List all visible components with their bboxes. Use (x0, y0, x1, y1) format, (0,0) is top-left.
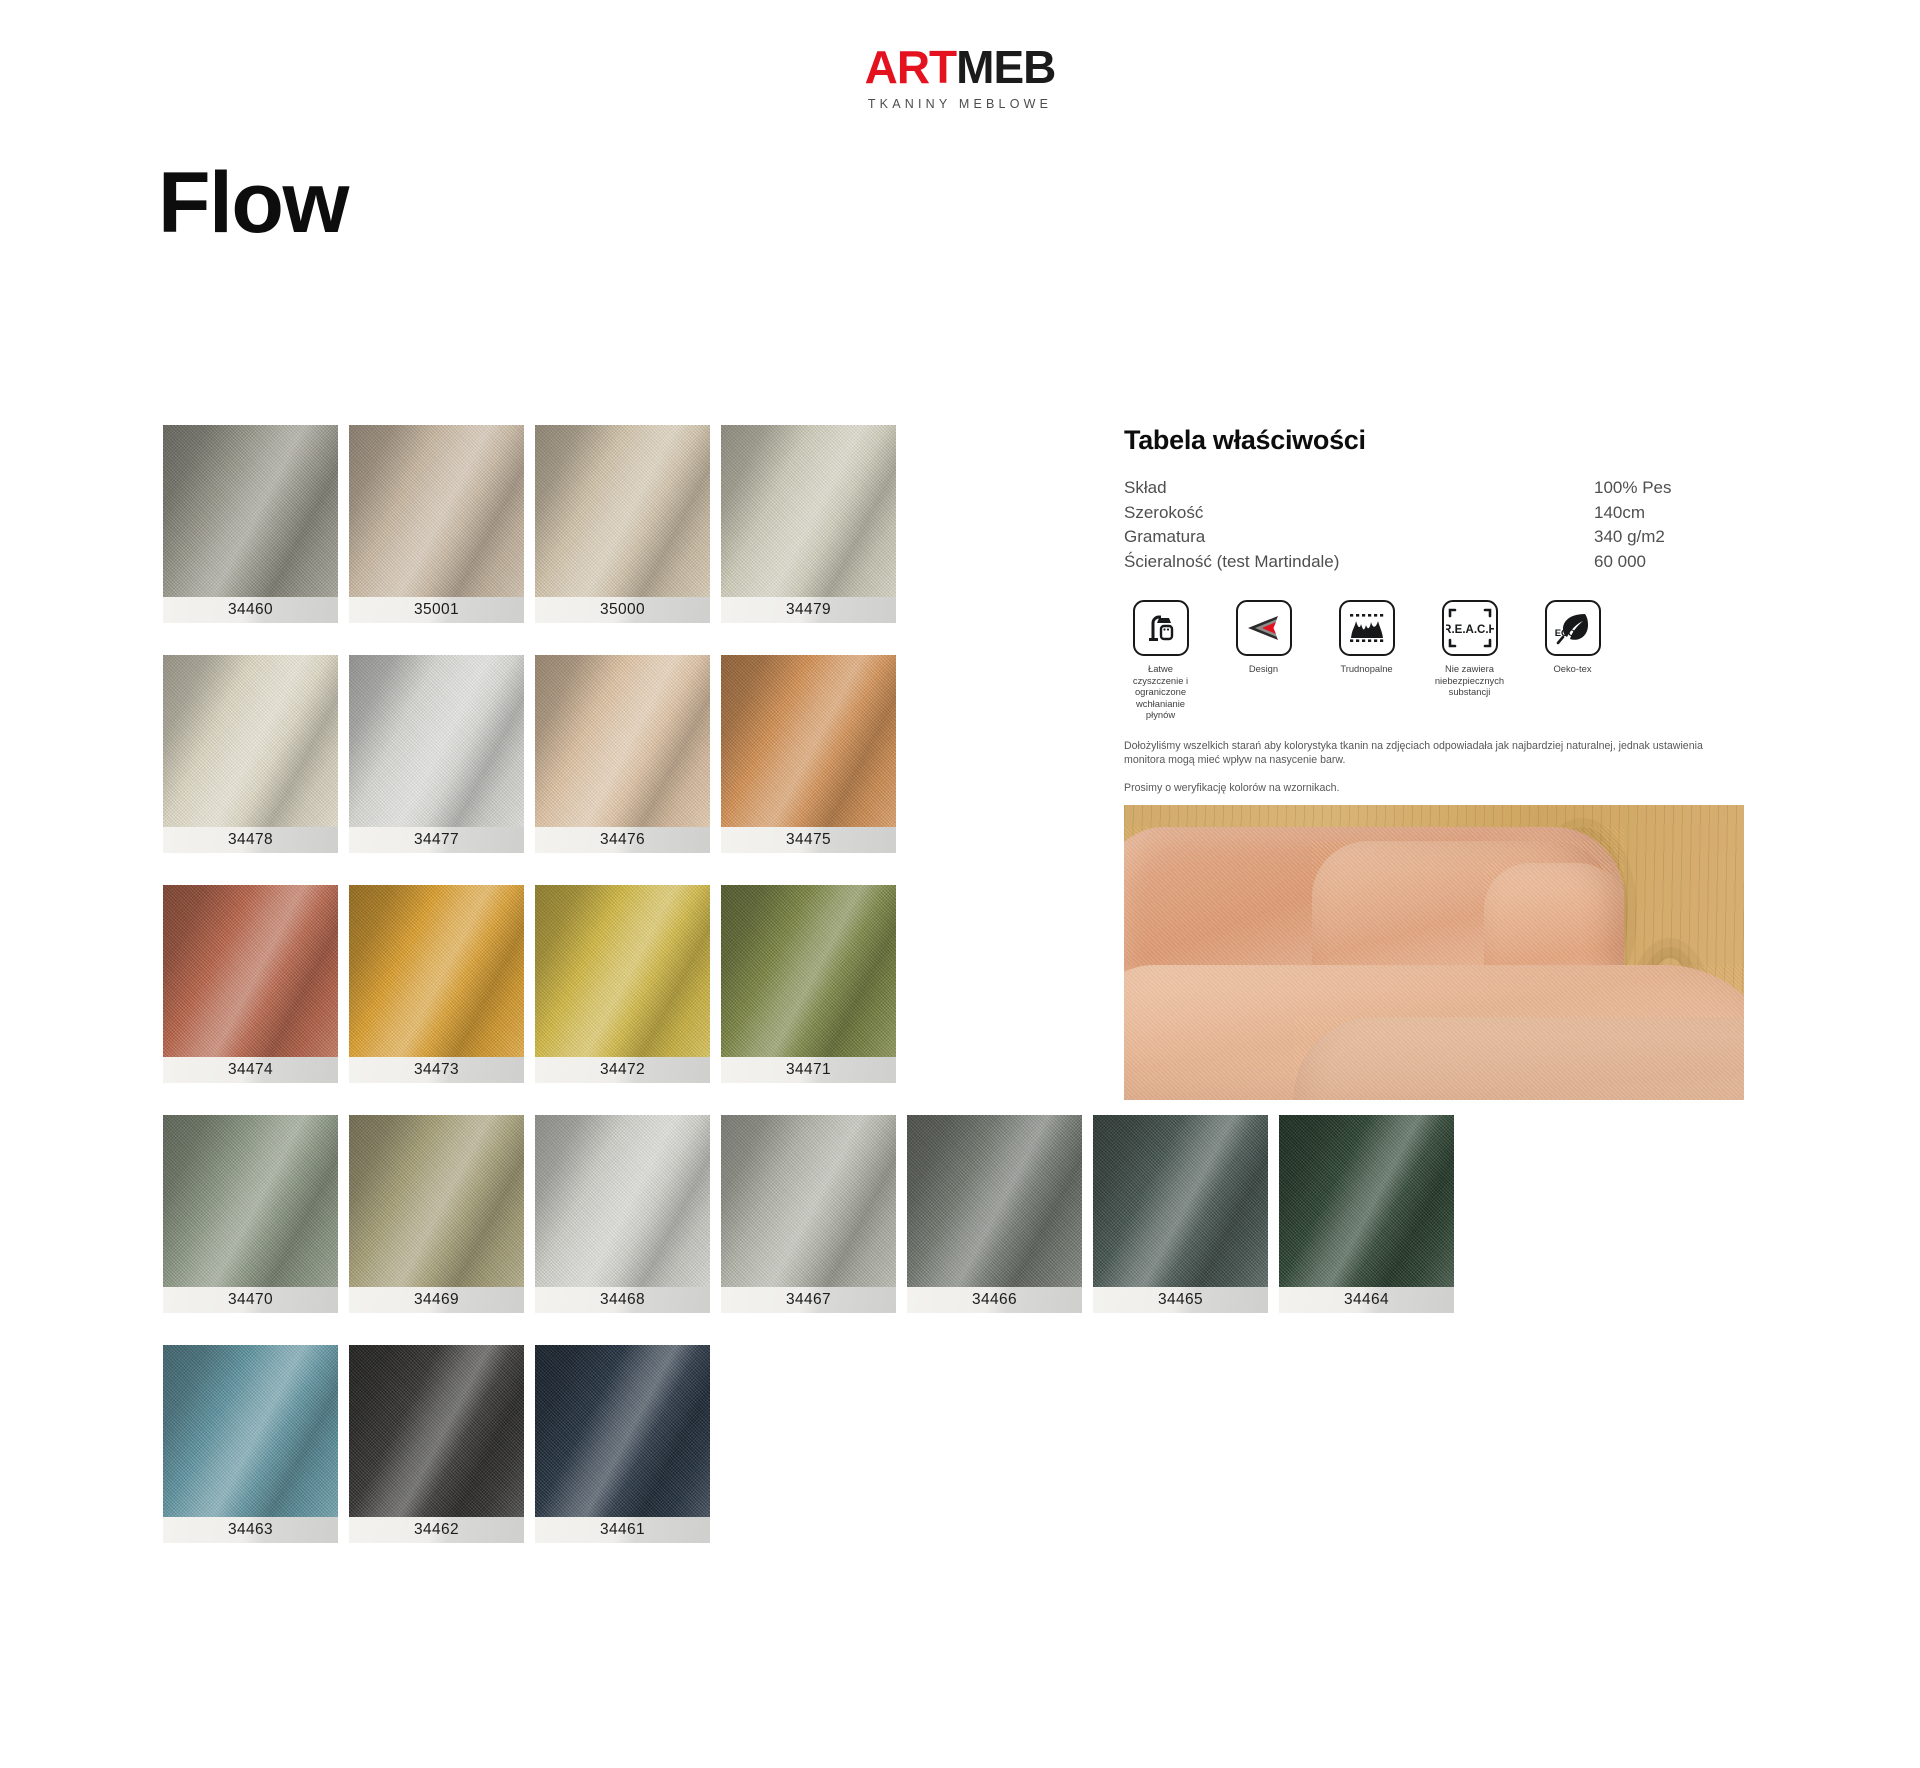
fabric-code-label: 34465 (1093, 1287, 1268, 1313)
design-icon (1236, 600, 1292, 656)
fabric-swatch-image (535, 425, 710, 597)
fabric-swatch[interactable]: 34467 (721, 1115, 896, 1313)
fabric-fold-shading (721, 1115, 896, 1287)
color-disclaimer: Dołożyliśmy wszelkich starań aby kolorys… (1124, 739, 1744, 796)
fabric-code-label: 34473 (349, 1057, 524, 1083)
fabric-code-label: 34464 (1279, 1287, 1454, 1313)
fabric-swatch-image (163, 1345, 338, 1517)
fabric-swatch-image (721, 655, 896, 827)
sofa-seat-cushion-front (1294, 1017, 1744, 1100)
property-row: Ścieralność (test Martindale)60 000 (1124, 550, 1764, 575)
certification-icon-row: Łatwe czyszczenie i ograniczone wchłania… (1124, 600, 1764, 721)
easy-clean-icon (1133, 600, 1189, 656)
logo-meb-text: MEB (956, 41, 1055, 93)
fabric-code-label: 34477 (349, 827, 524, 853)
fabric-code-label: 34460 (163, 597, 338, 623)
fabric-swatch[interactable]: 34462 (349, 1345, 524, 1543)
fabric-swatch-image (349, 1115, 524, 1287)
fabric-fold-shading (1093, 1115, 1268, 1287)
fabric-swatch[interactable]: 34469 (349, 1115, 524, 1313)
fabric-swatch[interactable]: 34471 (721, 885, 896, 1083)
fabric-code-label: 34478 (163, 827, 338, 853)
fabric-swatch[interactable]: 34461 (535, 1345, 710, 1543)
swatch-row: 34470344693446834467344663446534464 (163, 1115, 1263, 1345)
fabric-swatch[interactable]: 35000 (535, 425, 710, 623)
properties-heading: Tabela właściwości (1124, 425, 1764, 456)
fabric-code-label: 34479 (721, 597, 896, 623)
fabric-swatch[interactable]: 34476 (535, 655, 710, 853)
property-key: Ścieralność (test Martindale) (1124, 550, 1594, 575)
certification-caption: Łatwe czyszczenie i ograniczone wchłania… (1124, 663, 1197, 721)
fabric-fold-shading (535, 885, 710, 1057)
fabric-fold-shading (163, 425, 338, 597)
fabric-swatch-image (349, 425, 524, 597)
fabric-code-label: 34468 (535, 1287, 710, 1313)
property-value: 140cm (1594, 501, 1764, 526)
fabric-swatch[interactable]: 34474 (163, 885, 338, 1083)
fabric-fold-shading (349, 655, 524, 827)
fabric-fold-shading (163, 885, 338, 1057)
fabric-code-label: 34469 (349, 1287, 524, 1313)
fabric-swatch-image (721, 885, 896, 1057)
property-value: 340 g/m2 (1594, 525, 1764, 550)
swatch-row: 34478344773447634475 (163, 655, 1263, 885)
property-row: Gramatura340 g/m2 (1124, 525, 1764, 550)
certification-flame-retardant-icon: Trudnopalne (1330, 600, 1403, 721)
disclaimer-paragraph-1: Dołożyliśmy wszelkich starań aby kolorys… (1124, 739, 1744, 768)
fabric-code-label: 34475 (721, 827, 896, 853)
logo-art-text: ART (865, 41, 957, 93)
fabric-swatch[interactable]: 34472 (535, 885, 710, 1083)
swatch-row: 34474344733447234471 (163, 885, 1263, 1115)
fabric-swatch-image (907, 1115, 1082, 1287)
logo-wordmark: ARTMEB (0, 44, 1920, 90)
svg-text:ECO: ECO (1554, 628, 1575, 639)
fabric-swatch[interactable]: 34466 (907, 1115, 1082, 1313)
certification-caption: Oeko-tex (1536, 663, 1609, 675)
fabric-swatch[interactable]: 34460 (163, 425, 338, 623)
fabric-swatch[interactable]: 34465 (1093, 1115, 1268, 1313)
page-title: Flow (158, 160, 348, 246)
property-value: 60 000 (1594, 550, 1764, 575)
swatch-row: 344633446234461 (163, 1345, 1263, 1575)
certification-caption: Nie zawiera niebezpiecznych substancji (1433, 663, 1506, 698)
fabric-fold-shading (163, 1115, 338, 1287)
fabric-swatch[interactable]: 34463 (163, 1345, 338, 1543)
fabric-swatch[interactable]: 34479 (721, 425, 896, 623)
certification-easy-clean-icon: Łatwe czyszczenie i ograniczone wchłania… (1124, 600, 1197, 721)
fabric-swatch-image (721, 1115, 896, 1287)
fabric-code-label: 34467 (721, 1287, 896, 1313)
logo-tagline: TKANINY MEBLOWE (0, 97, 1920, 111)
property-key: Szerokość (1124, 501, 1594, 526)
oeko-tex-leaf-icon: ECO (1545, 600, 1601, 656)
fabric-fold-shading (535, 1115, 710, 1287)
fabric-swatch-image (535, 1115, 710, 1287)
fabric-fold-shading (721, 885, 896, 1057)
fabric-code-label: 34462 (349, 1517, 524, 1543)
property-row: Skład100% Pes (1124, 476, 1764, 501)
fabric-code-label: 34463 (163, 1517, 338, 1543)
fabric-swatch[interactable]: 34475 (721, 655, 896, 853)
fabric-swatch-image (349, 1345, 524, 1517)
certification-oeko-tex-leaf-icon: ECOOeko-tex (1536, 600, 1609, 721)
fabric-swatch-image (721, 425, 896, 597)
fabric-code-label: 34470 (163, 1287, 338, 1313)
fabric-code-label: 34466 (907, 1287, 1082, 1313)
fabric-swatch[interactable]: 34473 (349, 885, 524, 1083)
fabric-swatch-image (163, 885, 338, 1057)
fabric-code-label: 34472 (535, 1057, 710, 1083)
fabric-swatch-image (349, 885, 524, 1057)
fabric-code-label: 34476 (535, 827, 710, 853)
disclaimer-paragraph-2: Prosimy o weryfikację kolorów na wzornik… (1124, 781, 1744, 796)
fabric-swatch-image (163, 425, 338, 597)
certification-reach-icon: R.E.A.C.HNie zawiera niebezpiecznych sub… (1433, 600, 1506, 721)
fabric-code-label: 35001 (349, 597, 524, 623)
fabric-fold-shading (349, 1345, 524, 1517)
sofa-photo (1124, 805, 1744, 1100)
brand-logo: ARTMEB TKANINY MEBLOWE (0, 44, 1920, 111)
fabric-swatch[interactable]: 35001 (349, 425, 524, 623)
certification-caption: Trudnopalne (1330, 663, 1403, 675)
svg-text:R.E.A.C.H: R.E.A.C.H (1446, 624, 1494, 636)
fabric-code-label: 34461 (535, 1517, 710, 1543)
fabric-swatch-image (163, 1115, 338, 1287)
properties-panel: Tabela właściwości Skład100% PesSzerokoś… (1124, 425, 1764, 808)
fabric-fold-shading (535, 1345, 710, 1517)
fabric-fold-shading (1279, 1115, 1454, 1287)
property-key: Skład (1124, 476, 1594, 501)
fabric-swatch-image (349, 655, 524, 827)
fabric-fold-shading (349, 885, 524, 1057)
fabric-fold-shading (721, 425, 896, 597)
fabric-fold-shading (907, 1115, 1082, 1287)
fabric-swatch[interactable]: 34478 (163, 655, 338, 853)
fabric-fold-shading (163, 1345, 338, 1517)
fabric-code-label: 34471 (721, 1057, 896, 1083)
property-row: Szerokość140cm (1124, 501, 1764, 526)
fabric-swatch-grid: 3446035001350003447934478344773447634475… (163, 425, 1263, 1575)
fabric-fold-shading (349, 1115, 524, 1287)
fabric-code-label: 34474 (163, 1057, 338, 1083)
properties-table: Skład100% PesSzerokość140cmGramatura340 … (1124, 476, 1764, 574)
fabric-swatch[interactable]: 34470 (163, 1115, 338, 1313)
certification-caption: Design (1227, 663, 1300, 675)
swatch-row: 34460350013500034479 (163, 425, 1263, 655)
property-value: 100% Pes (1594, 476, 1764, 501)
fabric-fold-shading (349, 425, 524, 597)
fabric-fold-shading (535, 655, 710, 827)
fabric-swatch-image (1093, 1115, 1268, 1287)
fabric-swatch-image (1279, 1115, 1454, 1287)
fabric-swatch[interactable]: 34464 (1279, 1115, 1454, 1313)
property-key: Gramatura (1124, 525, 1594, 550)
fabric-swatch-image (535, 655, 710, 827)
fabric-fold-shading (721, 655, 896, 827)
fabric-swatch-image (163, 655, 338, 827)
fabric-swatch-image (535, 885, 710, 1057)
fabric-code-label: 35000 (535, 597, 710, 623)
fabric-swatch-image (535, 1345, 710, 1517)
reach-icon: R.E.A.C.H (1442, 600, 1498, 656)
fabric-swatch[interactable]: 34468 (535, 1115, 710, 1313)
certification-design-icon: Design (1227, 600, 1300, 721)
flame-retardant-icon (1339, 600, 1395, 656)
fabric-fold-shading (535, 425, 710, 597)
fabric-swatch[interactable]: 34477 (349, 655, 524, 853)
fabric-fold-shading (163, 655, 338, 827)
